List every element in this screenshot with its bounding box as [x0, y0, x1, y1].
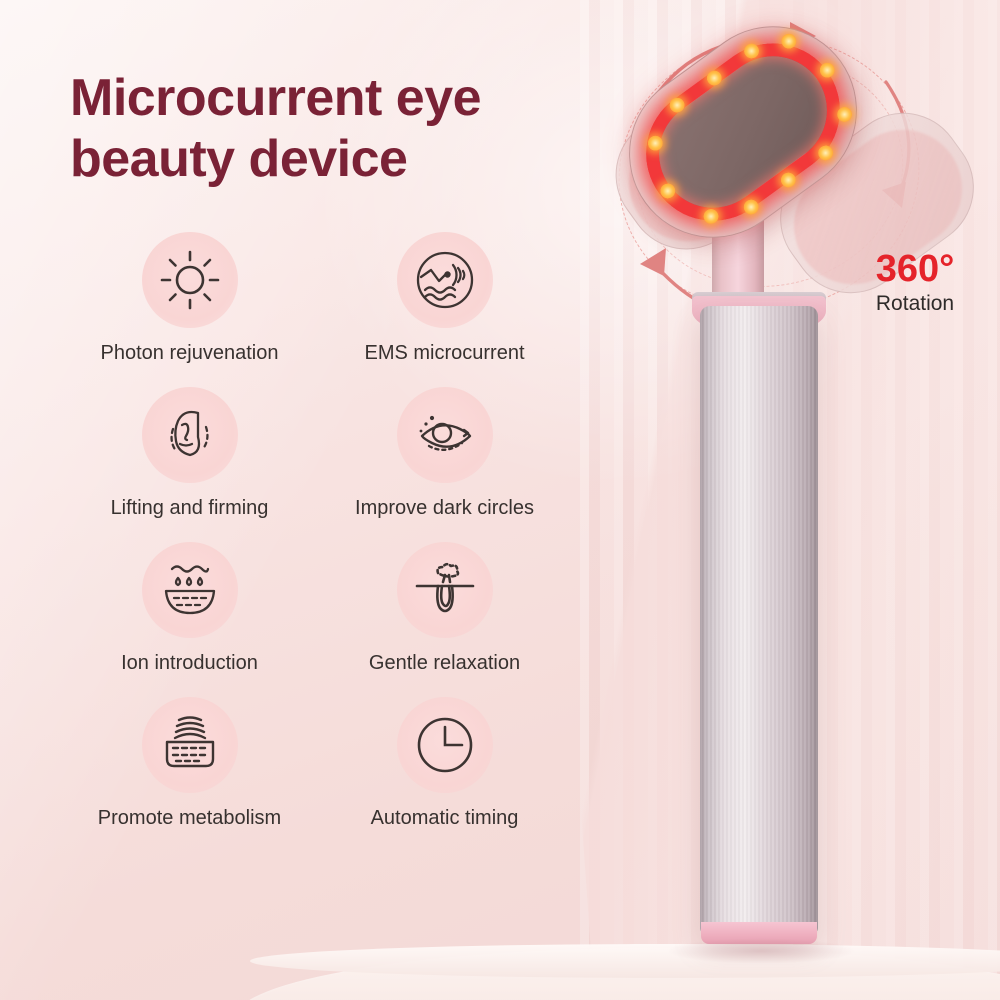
rotation-degrees: 360°: [845, 250, 985, 288]
led-dot: [834, 104, 855, 125]
sun-icon: [159, 249, 221, 311]
title-line-1: Microcurrent eye: [70, 69, 481, 127]
product-device: 360° Rotation: [600, 0, 1000, 1000]
led-dot: [704, 68, 725, 89]
feature-label: Improve dark circles: [355, 497, 534, 520]
led-dot: [645, 133, 666, 154]
feature-label: Photon rejuvenation: [101, 342, 279, 365]
feature-label: Ion introduction: [121, 652, 258, 675]
feature-icon-disc: [397, 387, 493, 483]
feature-item-ion-introduction: Ion introduction: [62, 542, 317, 675]
feature-item-promote-metabolism: Promote metabolism: [62, 697, 317, 830]
feature-icon-disc: [397, 697, 493, 793]
handle-texture: [700, 306, 818, 934]
led-dot: [741, 197, 762, 218]
led-dot: [701, 206, 722, 227]
pore-icon: [412, 560, 478, 620]
ems-wave-icon: [413, 248, 477, 312]
rotation-callout: 360° Rotation: [845, 250, 985, 316]
eye-icon: [412, 405, 478, 465]
feature-label: Gentle relaxation: [369, 652, 520, 675]
feature-item-automatic-timing: Automatic timing: [317, 697, 572, 830]
title-line-2: beauty device: [70, 129, 630, 190]
feature-item-ems-microcurrent: EMS microcurrent: [317, 232, 572, 365]
feature-row: Ion introduction Gentle relaxation: [62, 542, 582, 697]
led-dot: [657, 180, 678, 201]
handle-shadow: [666, 938, 856, 964]
feature-item-improve-dark-circles: Improve dark circles: [317, 387, 572, 520]
clock-icon: [414, 714, 476, 776]
led-dot: [741, 41, 762, 62]
feature-row: Photon rejuvenation EMS microcurr: [62, 232, 582, 387]
ion-droplet-icon: [158, 560, 222, 620]
feature-item-gentle-relaxation: Gentle relaxation: [317, 542, 572, 675]
feature-label: Lifting and firming: [111, 497, 269, 520]
face-lift-icon: [158, 403, 222, 467]
feature-item-lifting-and-firming: Lifting and firming: [62, 387, 317, 520]
feature-list: Photon rejuvenation EMS microcurr: [62, 232, 582, 852]
feature-item-photon-rejuvenation: Photon rejuvenation: [62, 232, 317, 365]
led-dot: [778, 170, 799, 191]
feature-icon-disc: [397, 542, 493, 638]
page-title: Microcurrent eye beauty device: [70, 68, 630, 191]
skin-wave-icon: [158, 714, 222, 776]
device-handle: [700, 306, 818, 934]
product-marketing-image: Microcurrent eye beauty device: [0, 0, 1000, 1000]
rotation-word: Rotation: [845, 292, 985, 316]
led-dot: [815, 142, 836, 163]
feature-icon-disc: [142, 542, 238, 638]
feature-label: EMS microcurrent: [364, 342, 524, 365]
feature-row: Lifting and firming Improve dark circles: [62, 387, 582, 542]
led-dot: [667, 95, 688, 116]
feature-label: Automatic timing: [371, 807, 519, 830]
led-dot: [817, 60, 838, 81]
feature-row: Promote metabolism Automatic timing: [62, 697, 582, 852]
led-dot: [778, 31, 799, 52]
feature-icon-disc: [142, 232, 238, 328]
feature-icon-disc: [142, 387, 238, 483]
feature-icon-disc: [142, 697, 238, 793]
feature-label: Promote metabolism: [98, 807, 281, 830]
feature-icon-disc: [397, 232, 493, 328]
